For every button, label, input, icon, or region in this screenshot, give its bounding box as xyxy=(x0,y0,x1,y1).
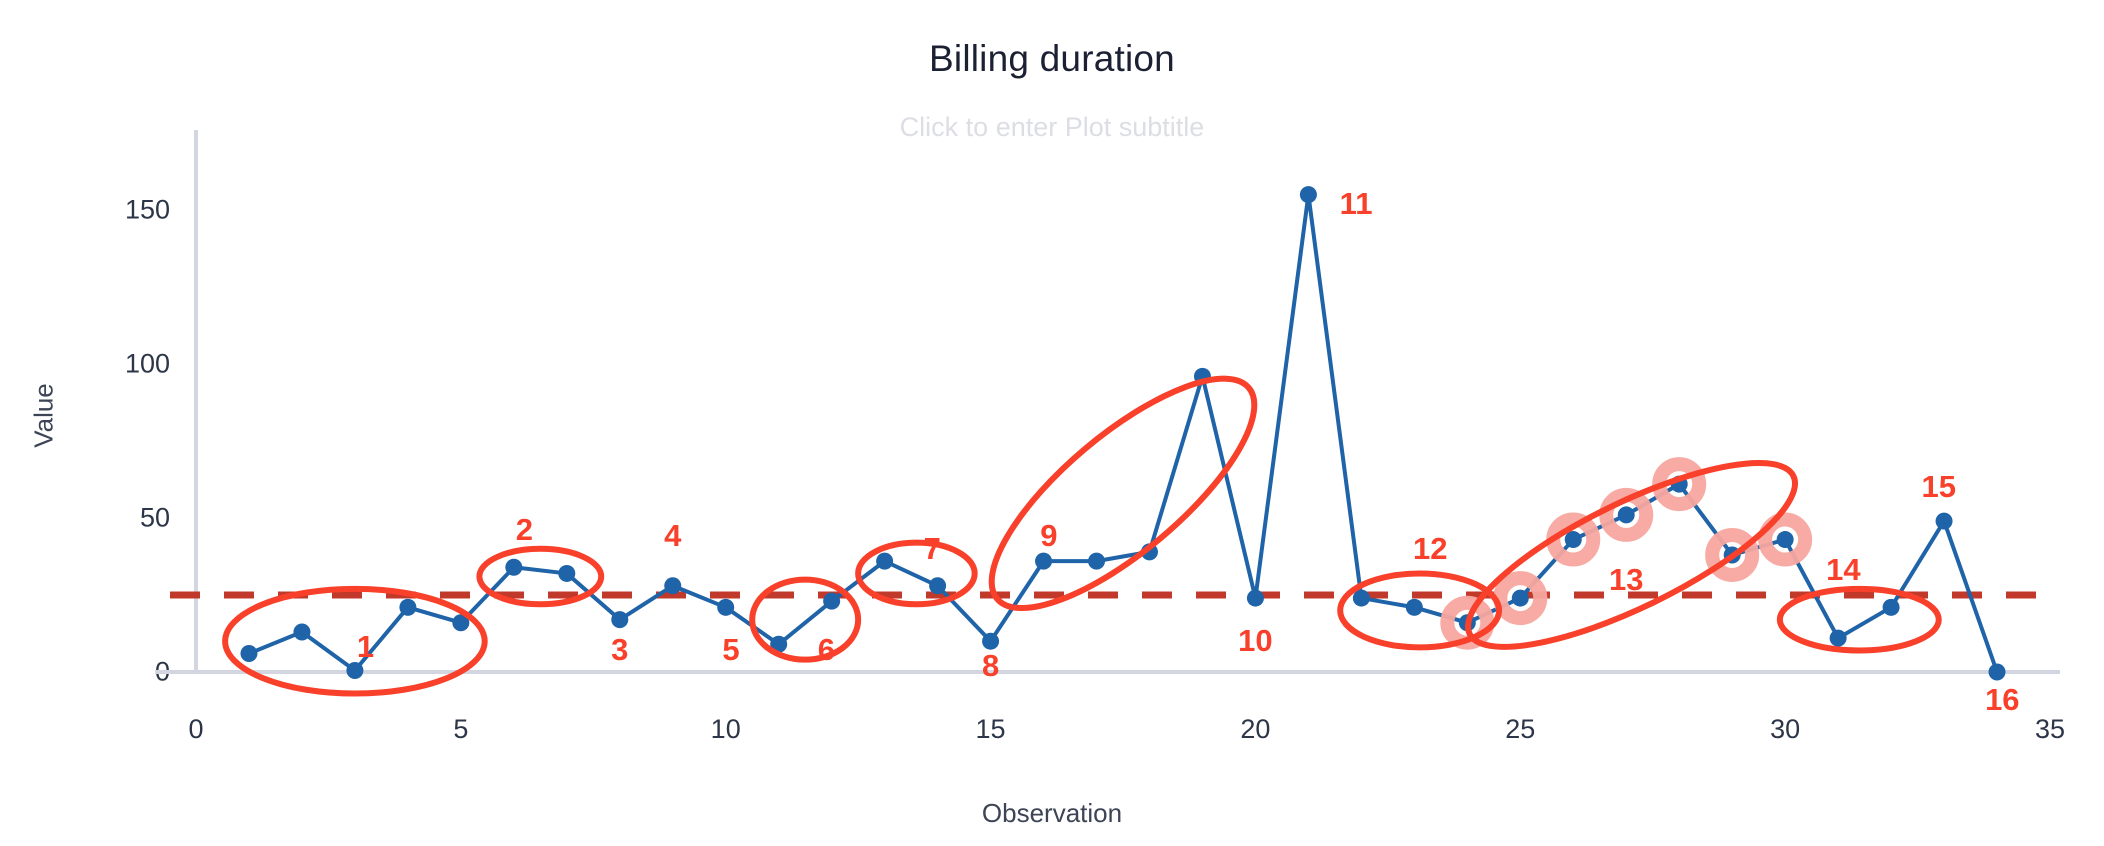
data-point-obs-7[interactable] xyxy=(558,565,575,582)
annotation-label-13[interactable]: 13 xyxy=(1609,562,1643,598)
annotation-ellipse-13[interactable] xyxy=(1447,429,1817,681)
annotation-ellipse-9[interactable] xyxy=(960,343,1287,644)
data-point-obs-26[interactable] xyxy=(1565,531,1582,548)
data-point-obs-32[interactable] xyxy=(1883,599,1900,616)
data-point-obs-22[interactable] xyxy=(1353,590,1370,607)
data-point-obs-6[interactable] xyxy=(505,559,522,576)
annotation-label-16[interactable]: 16 xyxy=(1985,682,2019,718)
data-point-obs-34[interactable] xyxy=(1989,664,2006,681)
data-point-obs-10[interactable] xyxy=(717,599,734,616)
annotation-label-7[interactable]: 7 xyxy=(924,531,941,567)
annotation-label-8[interactable]: 8 xyxy=(982,648,999,684)
data-point-obs-23[interactable] xyxy=(1406,599,1423,616)
annotation-ellipse-7[interactable] xyxy=(858,543,975,605)
data-point-obs-25[interactable] xyxy=(1512,590,1529,607)
data-point-obs-9[interactable] xyxy=(664,577,681,594)
data-point-obs-8[interactable] xyxy=(611,611,628,628)
annotation-label-15[interactable]: 15 xyxy=(1922,469,1956,505)
data-point-obs-17[interactable] xyxy=(1088,553,1105,570)
data-point-obs-16[interactable] xyxy=(1035,553,1052,570)
annotation-label-6[interactable]: 6 xyxy=(818,632,835,668)
chart-container: Billing duration Click to enter Plot sub… xyxy=(0,0,2104,846)
annotation-label-9[interactable]: 9 xyxy=(1040,518,1057,554)
plot-area[interactable] xyxy=(0,0,2104,846)
data-point-obs-2[interactable] xyxy=(293,623,310,640)
data-point-obs-27[interactable] xyxy=(1618,506,1635,523)
data-point-obs-31[interactable] xyxy=(1830,630,1847,647)
annotation-label-10[interactable]: 10 xyxy=(1238,623,1272,659)
annotation-label-14[interactable]: 14 xyxy=(1826,552,1860,588)
data-point-obs-20[interactable] xyxy=(1247,590,1264,607)
data-point-obs-21[interactable] xyxy=(1300,186,1317,203)
annotation-ellipse-6[interactable] xyxy=(752,580,858,660)
annotation-label-1[interactable]: 1 xyxy=(357,629,374,665)
data-point-obs-13[interactable] xyxy=(876,553,893,570)
annotation-label-5[interactable]: 5 xyxy=(722,632,739,668)
data-point-obs-33[interactable] xyxy=(1936,513,1953,530)
annotation-label-4[interactable]: 4 xyxy=(664,518,681,554)
annotation-label-11[interactable]: 11 xyxy=(1340,186,1373,222)
data-point-obs-4[interactable] xyxy=(399,599,416,616)
annotation-label-3[interactable]: 3 xyxy=(611,632,628,668)
annotation-label-2[interactable]: 2 xyxy=(516,512,533,548)
annotation-label-12[interactable]: 12 xyxy=(1413,531,1447,567)
annotation-ellipse-2[interactable] xyxy=(479,549,601,604)
data-point-obs-30[interactable] xyxy=(1777,531,1794,548)
data-point-obs-12[interactable] xyxy=(823,593,840,610)
data-point-obs-1[interactable] xyxy=(240,645,257,662)
data-point-obs-14[interactable] xyxy=(929,577,946,594)
